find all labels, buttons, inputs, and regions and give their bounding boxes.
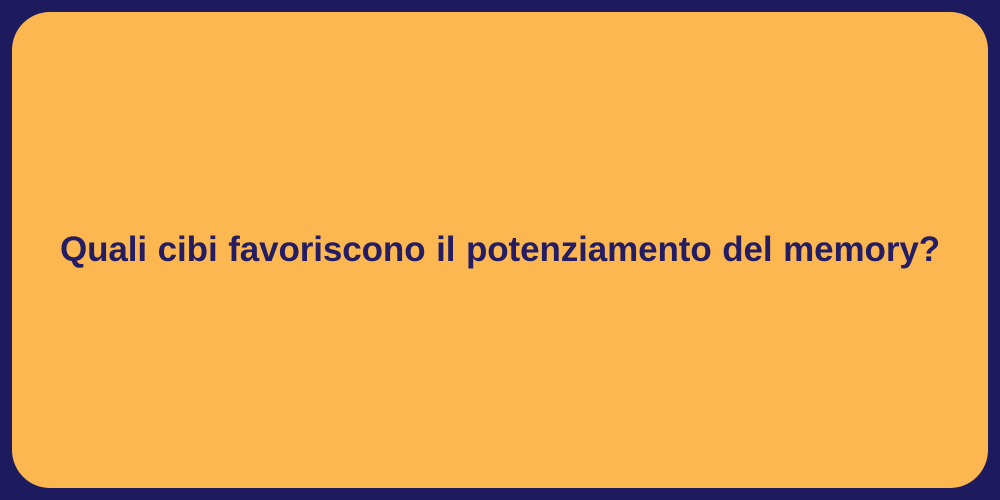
banner-frame: Quali cibi favoriscono il potenziamento … xyxy=(0,0,1000,500)
banner-panel: Quali cibi favoriscono il potenziamento … xyxy=(12,12,988,488)
banner-headline: Quali cibi favoriscono il potenziamento … xyxy=(60,228,940,272)
